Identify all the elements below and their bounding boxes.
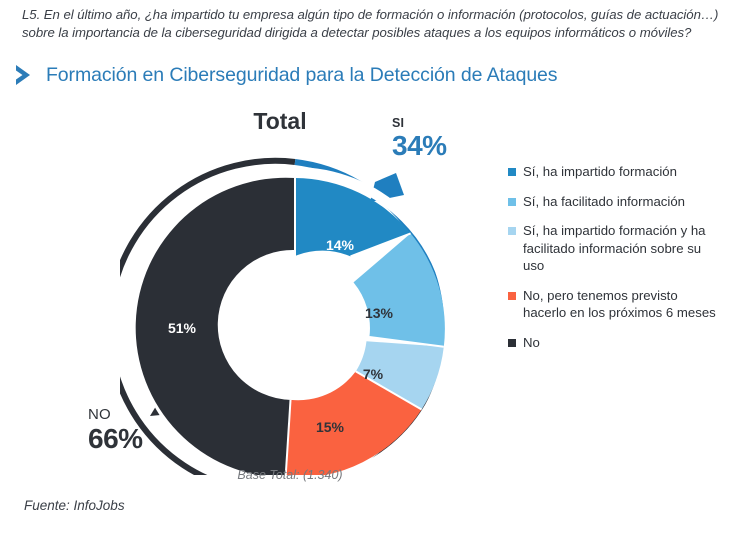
slice-label-51: 51% — [168, 320, 197, 336]
callout-no: NO 66% — [88, 406, 143, 454]
slice-label-7: 7% — [363, 366, 384, 382]
donut-chart-svg: 14% 13% 7% 15% 51% — [120, 140, 470, 475]
legend-item-label: No, pero tenemos previsto hacerlo en los… — [523, 287, 718, 322]
legend-swatch-icon — [508, 198, 516, 206]
slide-title: Formación en Ciberseguridad para la Dete… — [14, 63, 557, 87]
callout-no-value: 66% — [88, 423, 143, 454]
donut-chart: 14% 13% 7% 15% 51% — [120, 140, 470, 475]
donut-hole — [223, 256, 367, 400]
callout-si-value: 34% — [392, 130, 447, 161]
legend-swatch-icon — [508, 227, 516, 235]
legend-item-no-previsto[interactable]: No, pero tenemos previsto hacerlo en los… — [508, 287, 718, 322]
slice-label-13: 13% — [365, 305, 394, 321]
slice-label-15: 15% — [316, 419, 345, 435]
chart-legend: Sí, ha impartido formación Sí, ha facili… — [508, 163, 718, 363]
legend-item-si-ambas[interactable]: Sí, ha impartido formación y ha facilita… — [508, 222, 718, 275]
callout-no-label: NO — [88, 406, 143, 423]
legend-swatch-icon — [508, 339, 516, 347]
legend-item-no[interactable]: No — [508, 334, 718, 352]
legend-item-si-facilitado-informacion[interactable]: Sí, ha facilitado información — [508, 193, 718, 211]
legend-item-label: Sí, ha facilitado información — [523, 193, 685, 211]
slice-label-14: 14% — [326, 237, 355, 253]
chevron-right-icon — [14, 63, 36, 87]
legend-item-label: No — [523, 334, 540, 352]
base-total-note: Base Total: (1.340) — [200, 468, 380, 482]
legend-swatch-icon — [508, 292, 516, 300]
chart-title: Total — [210, 108, 350, 135]
source-note: Fuente: InfoJobs — [24, 498, 125, 513]
callout-si: SI 34% — [392, 116, 447, 161]
legend-item-label: Sí, ha impartido formación y ha facilita… — [523, 222, 718, 275]
slide-title-label: Formación en Ciberseguridad para la Dete… — [46, 64, 557, 87]
legend-item-label: Sí, ha impartido formación — [523, 163, 677, 181]
legend-item-si-imparte-formacion[interactable]: Sí, ha impartido formación — [508, 163, 718, 181]
callout-si-label: SI — [392, 116, 447, 130]
question-text: L5. En el último año, ¿ha impartido tu e… — [22, 6, 722, 43]
legend-swatch-icon — [508, 168, 516, 176]
